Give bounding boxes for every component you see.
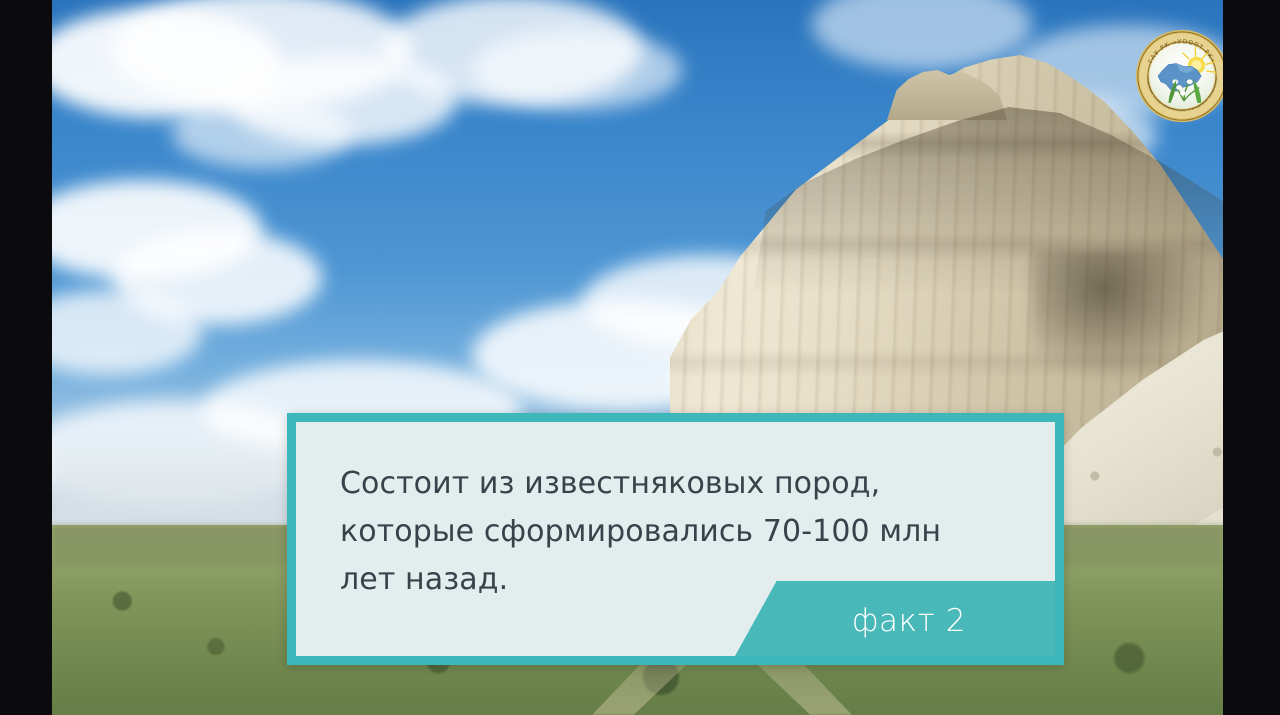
organization-logo: ГАУ РК «УООПТ РК» УПРАВЛЕНИЕ ОСОБО ОХРАН… (1134, 28, 1230, 124)
cloud (172, 98, 352, 168)
fact-card: Состоит из известняковых пород, которые … (287, 413, 1064, 665)
slide-stage: ГАУ РК «УООПТ РК» УПРАВЛЕНИЕ ОСОБО ОХРАН… (0, 0, 1280, 715)
fact-card-panel: Состоит из известняковых пород, которые … (296, 422, 1055, 656)
fact-number-banner: факт 2 (735, 581, 1055, 656)
fact-banner-label: факт 2 (852, 603, 966, 639)
letterbox-bar-left (0, 0, 52, 715)
letterbox-bar-right (1223, 0, 1280, 715)
cloud (472, 30, 682, 110)
